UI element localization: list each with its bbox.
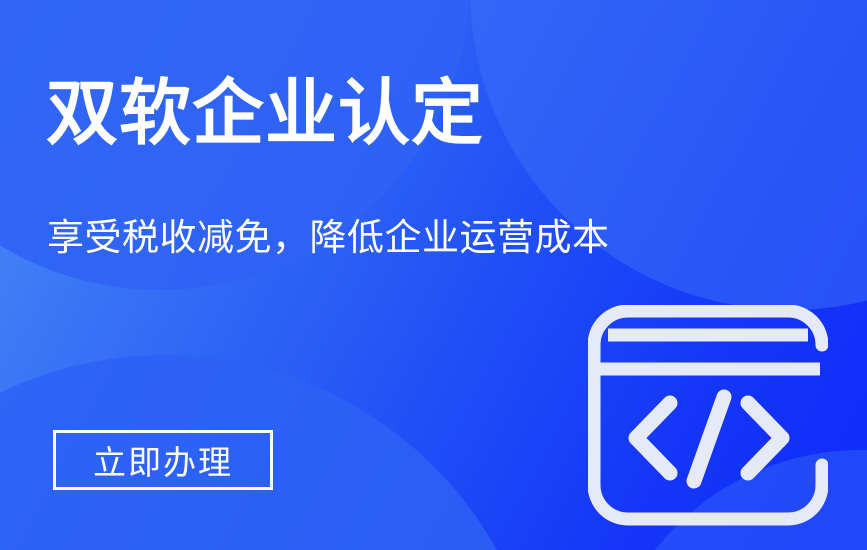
banner-subheadline: 享受税收减免，降低企业运营成本 — [47, 215, 610, 261]
code-window-icon — [588, 305, 828, 530]
banner-content: 双软企业认定 享受税收减免，降低企业运营成本 立即办理 — [0, 0, 867, 550]
promo-banner: 双软企业认定 享受税收减免，降低企业运营成本 立即办理 — [0, 0, 867, 550]
forward-slash — [694, 397, 724, 481]
banner-headline: 双软企业认定 — [46, 78, 484, 150]
apply-now-button[interactable]: 立即办理 — [53, 430, 273, 490]
left-angle-bracket — [636, 403, 670, 473]
right-angle-bracket — [748, 403, 782, 473]
window-frame — [594, 311, 822, 519]
code-window-icon-svg — [588, 305, 828, 530]
